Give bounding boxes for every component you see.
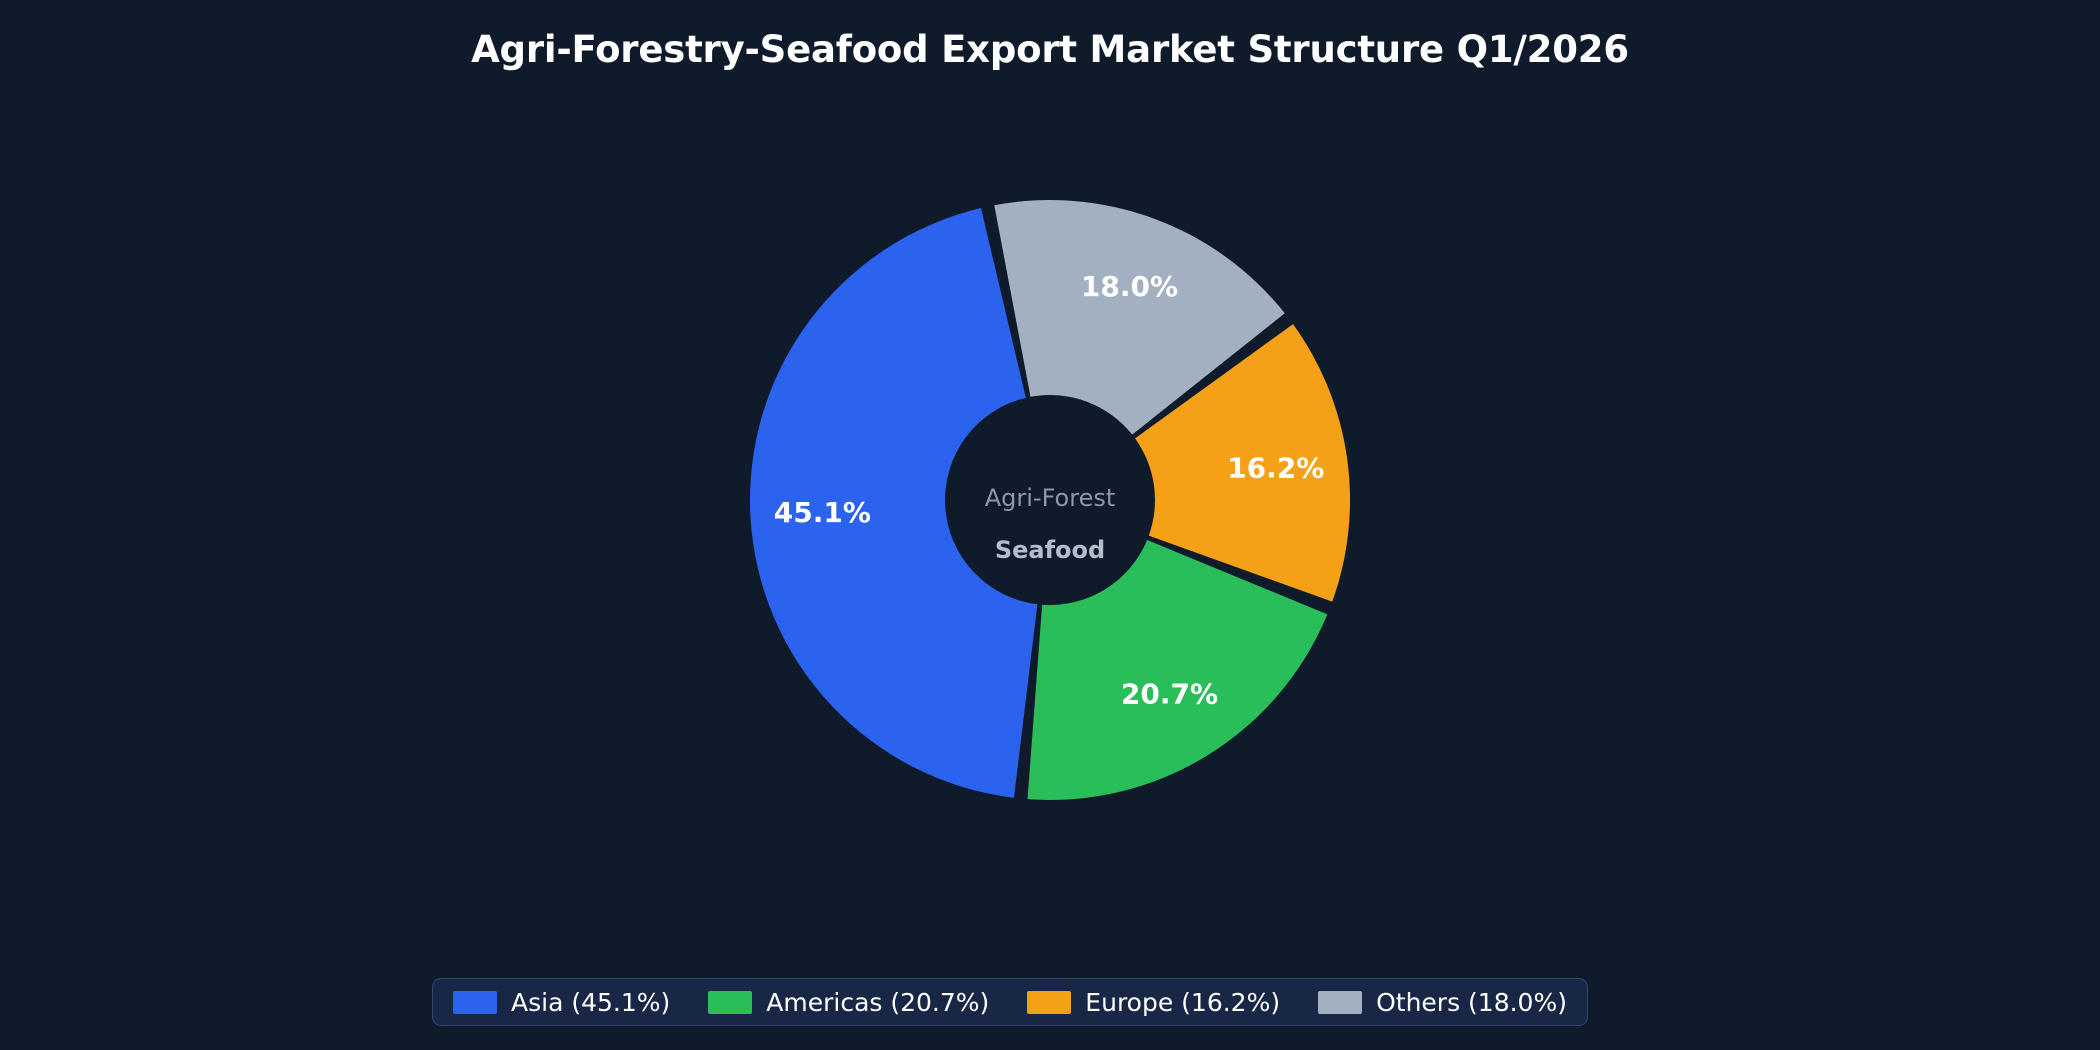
slice-label-asia: 45.1% [774,496,871,529]
donut-svg: 18.0%16.2%20.7%45.1% Agri-Forest Seafood [0,0,2100,1050]
legend-swatch-icon [1318,991,1362,1014]
legend-label: Europe (16.2%) [1085,988,1280,1017]
legend-label: Others (18.0%) [1376,988,1567,1017]
chart-canvas: Agri-Forestry-Seafood Export Market Stru… [0,0,2100,1050]
slice-label-others: 18.0% [1081,270,1178,303]
legend-item[interactable]: Others (18.0%) [1318,988,1567,1017]
slice-label-americas: 20.7% [1121,678,1218,711]
chart-legend[interactable]: Asia (45.1%)Americas (20.7%)Europe (16.2… [432,978,1588,1026]
legend-swatch-icon [708,991,752,1014]
donut-chart: 18.0%16.2%20.7%45.1% Agri-Forest Seafood [0,0,2100,1050]
legend-item[interactable]: Europe (16.2%) [1027,988,1280,1017]
center-label-line2: Seafood [995,536,1105,564]
legend-label: Asia (45.1%) [511,988,670,1017]
legend-label: Americas (20.7%) [766,988,989,1017]
slice-label-europe: 16.2% [1227,451,1324,484]
legend-swatch-icon [453,991,497,1014]
legend-item[interactable]: Asia (45.1%) [453,988,670,1017]
legend-swatch-icon [1027,991,1071,1014]
legend-item[interactable]: Americas (20.7%) [708,988,989,1017]
center-label-line1: Agri-Forest [985,484,1116,512]
